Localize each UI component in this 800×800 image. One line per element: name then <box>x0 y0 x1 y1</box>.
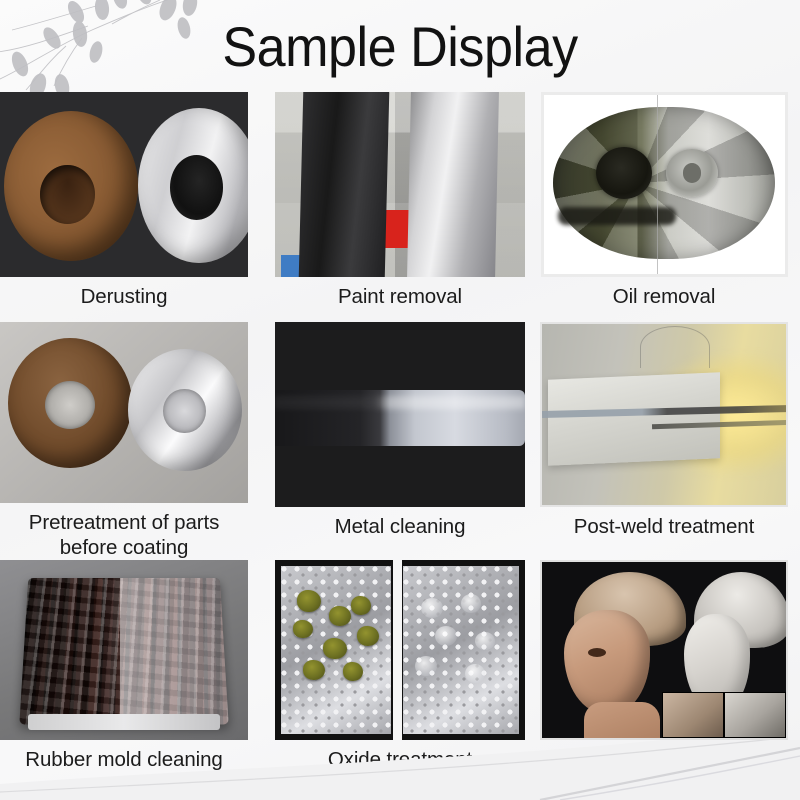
caption-metal-cleaning: Metal cleaning <box>275 507 525 539</box>
gallery-item-rubber-mold[interactable]: Rubber mold cleaning <box>0 560 266 785</box>
photo-rubber-mold-cleaning <box>0 560 248 740</box>
photo-oil-removal <box>541 92 788 277</box>
caption-pretreatment: Pretreatment of parts before coating <box>0 503 248 560</box>
caption-derusting: Derusting <box>0 277 248 309</box>
caption-rubber-mold: Rubber mold cleaning <box>0 740 248 772</box>
caption-oxide-treatment: Oxide treatment <box>275 740 525 772</box>
photo-metal-cleaning <box>275 322 525 507</box>
gallery-item-post-weld[interactable]: Post-weld treatment <box>534 322 800 560</box>
caption-paint-removal: Paint removal <box>275 277 525 309</box>
page-title: Sample Display <box>28 14 772 80</box>
gallery-item-derusting[interactable]: Derusting <box>0 92 266 322</box>
sample-display-page: Sample Display Derusting Paint removal <box>0 0 800 800</box>
gallery-item-metal-cleaning[interactable]: Metal cleaning <box>266 322 534 560</box>
caption-post-weld: Post-weld treatment <box>540 507 788 539</box>
photo-paint-removal <box>275 92 525 277</box>
sample-gallery: Derusting Paint removal Oil removal Pr <box>0 92 800 785</box>
gallery-item-paint-removal[interactable]: Paint removal <box>266 92 534 322</box>
caption-stone-cleaning: Stone cleaning <box>540 740 788 772</box>
gallery-item-oil-removal[interactable]: Oil removal <box>534 92 800 322</box>
gallery-item-pretreatment[interactable]: Pretreatment of parts before coating <box>0 322 266 560</box>
photo-pretreatment <box>0 322 248 503</box>
gallery-item-stone-cleaning[interactable]: Stone cleaning <box>534 560 800 785</box>
photo-derusting <box>0 92 248 277</box>
caption-oil-removal: Oil removal <box>540 277 788 309</box>
photo-post-weld-treatment <box>540 322 788 507</box>
photo-stone-cleaning <box>540 560 788 740</box>
gallery-item-oxide-treatment[interactable]: Oxide treatment <box>266 560 534 785</box>
photo-oxide-treatment <box>275 560 525 740</box>
